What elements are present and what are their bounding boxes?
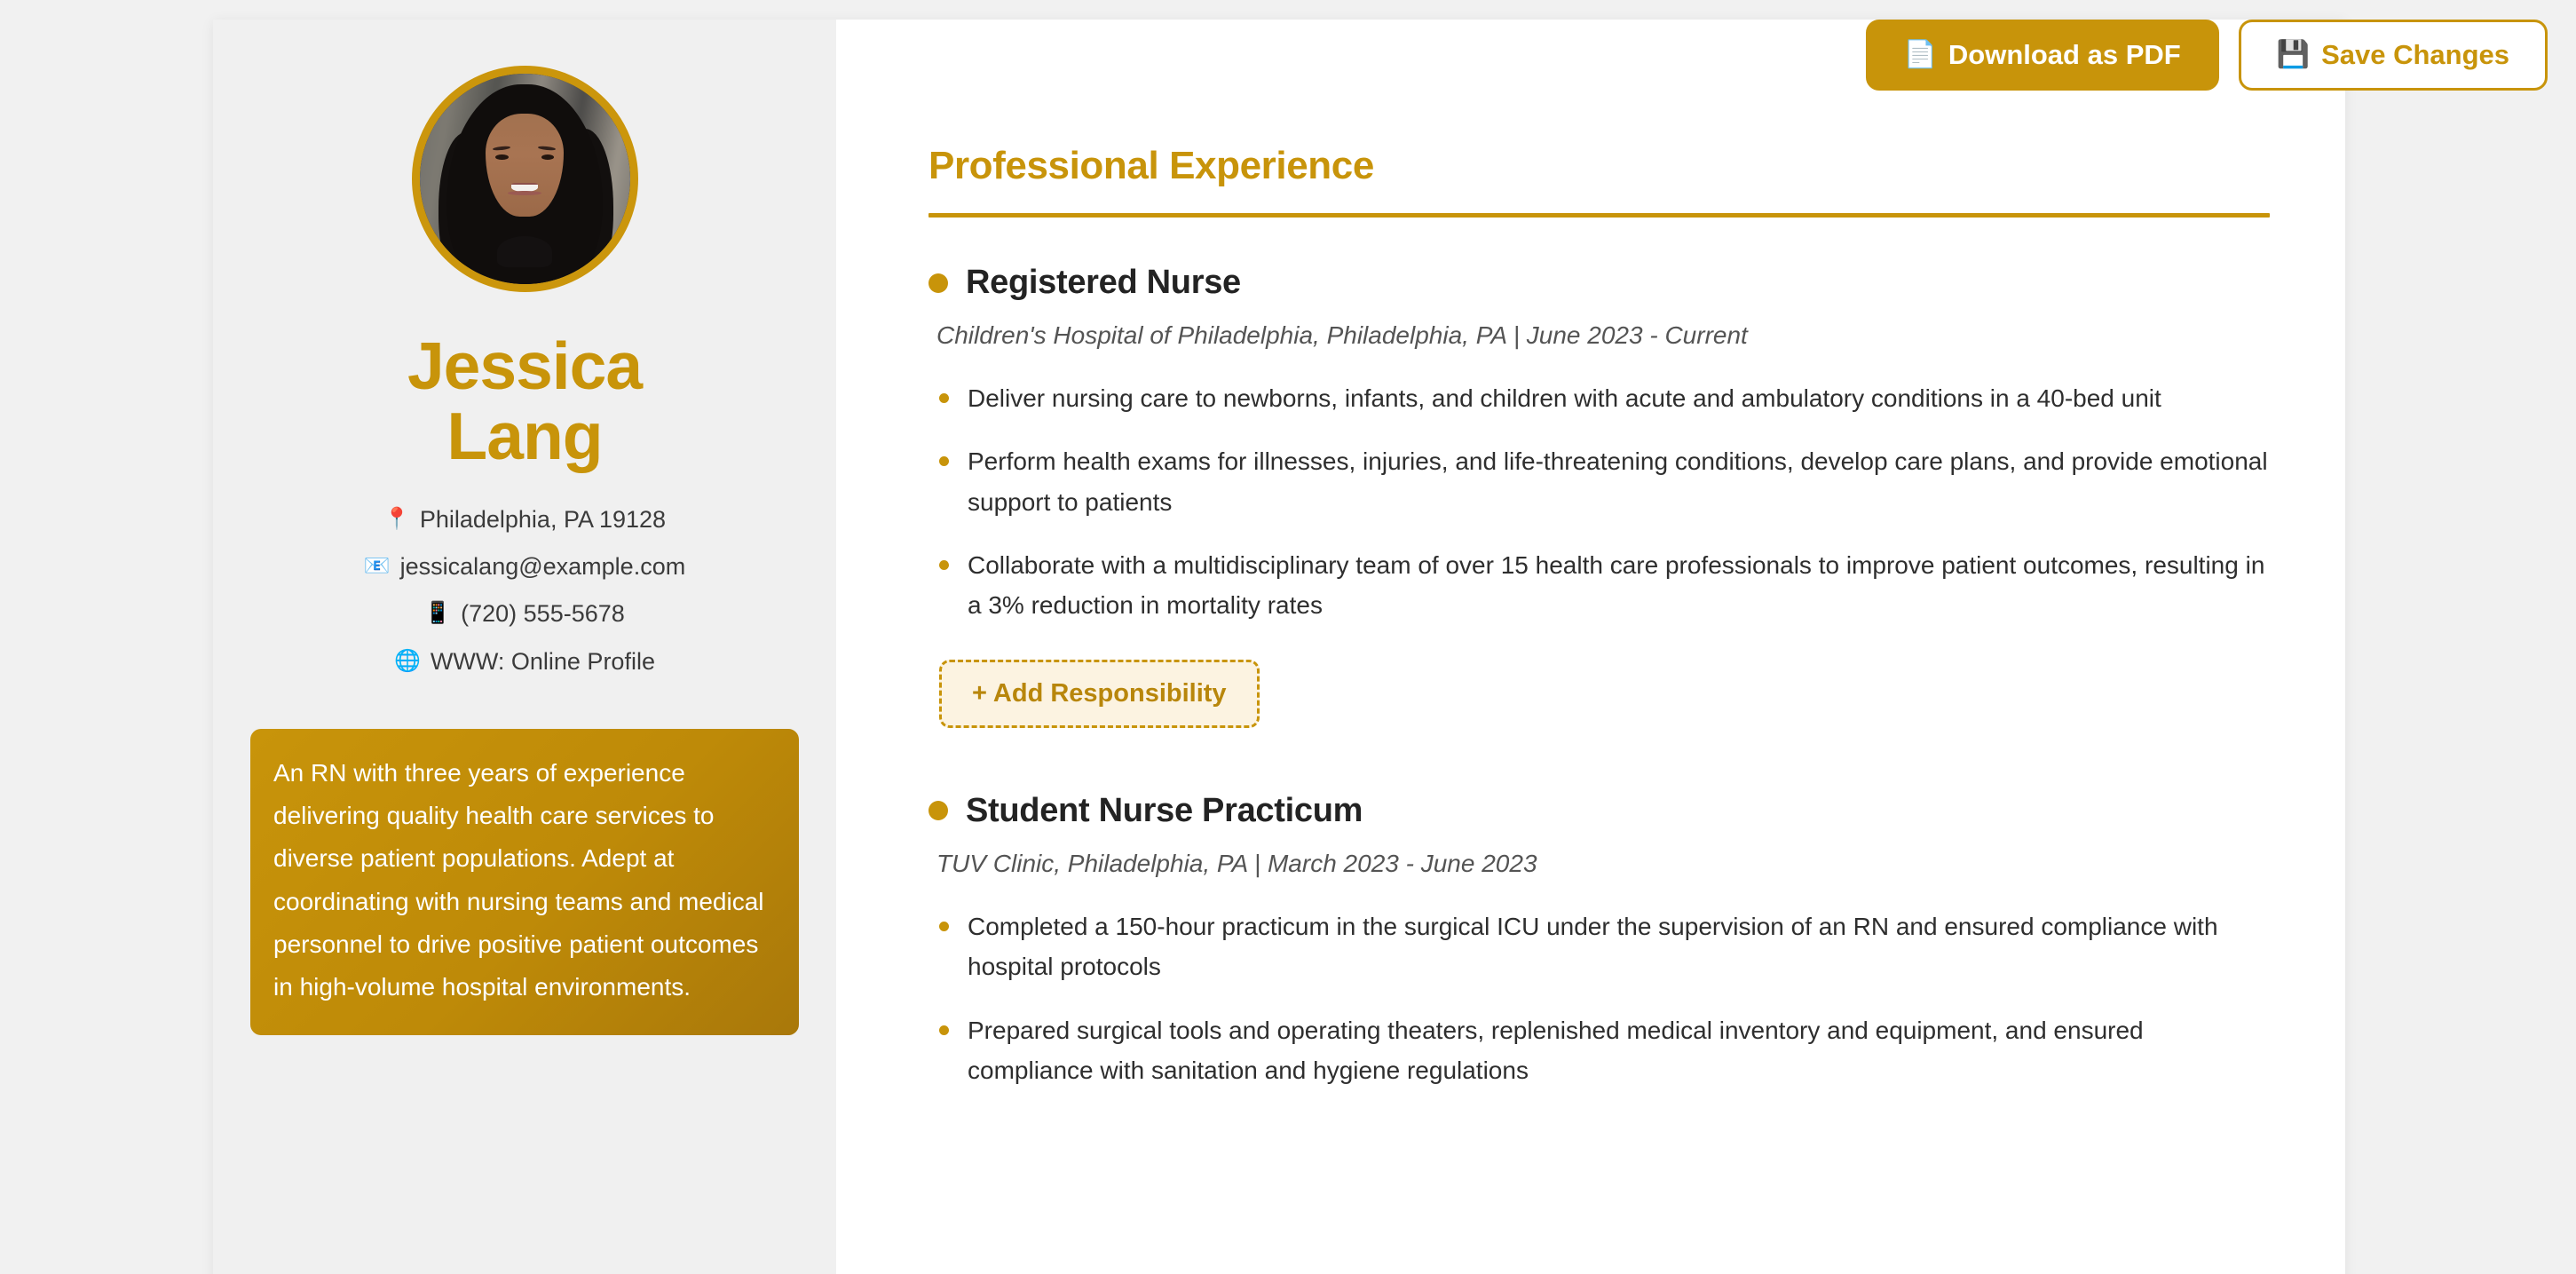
avatar-photo [420,74,630,284]
responsibility-bullet-icon [939,1025,949,1035]
avatar-lower-lip [508,191,541,196]
editor-toolbar: 📄 Download as PDF 💾 Save Changes [1866,20,2548,91]
globe-icon: 🌐 [394,651,421,672]
job-entry: Registered Nurse Children's Hospital of … [928,264,2270,728]
save-changes-label: Save Changes [2321,40,2509,70]
contact-item-website[interactable]: 🌐 WWW: Online Profile [394,647,655,676]
contact-item-email[interactable]: 📧 jessicalang@example.com [364,552,685,581]
job-title-row[interactable]: Student Nurse Practicum [928,792,2270,830]
responsibility-list: Deliver nursing care to newborns, infant… [928,378,2270,626]
responsibility-text: Collaborate with a multidisciplinary tea… [968,545,2270,626]
responsibility-item[interactable]: Collaborate with a multidisciplinary tea… [939,545,2270,626]
responsibility-list: Completed a 150-hour practicum in the su… [928,906,2270,1090]
responsibility-item[interactable]: Completed a 150-hour practicum in the su… [939,906,2270,987]
job-title-row[interactable]: Registered Nurse [928,264,2270,302]
avatar-collar [497,236,552,268]
responsibility-item[interactable]: Perform health exams for illnesses, inju… [939,441,2270,522]
job-title: Registered Nurse [966,264,1241,302]
contact-email-text: jessicalang@example.com [400,552,686,581]
job-entry: Student Nurse Practicum TUV Clinic, Phil… [928,792,2270,1090]
contact-phone-text: (720) 555-5678 [461,599,625,628]
contact-item-phone[interactable]: 📱 (720) 555-5678 [424,599,625,628]
save-changes-button[interactable]: 💾 Save Changes [2239,20,2548,91]
responsibility-text: Perform health exams for illnesses, inju… [968,441,2270,522]
download-as-pdf-label: Download as PDF [1948,40,2181,70]
responsibility-item[interactable]: Deliver nursing care to newborns, infant… [939,378,2270,418]
responsibility-text: Deliver nursing care to newborns, infant… [968,378,2161,418]
contact-website-text: WWW: Online Profile [431,647,655,676]
floppy-disk-icon: 💾 [2277,42,2310,68]
job-meta[interactable]: Children's Hospital of Philadelphia, Phi… [936,321,2270,350]
job-bullet-icon [928,801,948,820]
section-title-professional-experience: Professional Experience [928,144,2270,188]
responsibility-bullet-icon [939,922,949,931]
mobile-phone-icon: 📱 [424,603,451,624]
section-divider [928,213,2270,218]
professional-summary[interactable]: An RN with three years of experience del… [250,729,799,1035]
responsibility-text: Completed a 150-hour practicum in the su… [968,906,2270,987]
resume-page-card: Jessica Lang 📍 Philadelphia, PA 19128 📧 … [213,20,2345,1274]
job-title: Student Nurse Practicum [966,792,1363,830]
avatar[interactable] [412,66,638,292]
responsibility-bullet-icon [939,393,949,403]
contact-list: 📍 Philadelphia, PA 19128 📧 jessicalang@e… [250,505,799,677]
app-background: Jessica Lang 📍 Philadelphia, PA 19128 📧 … [0,0,2576,1274]
contact-location-text: Philadelphia, PA 19128 [420,505,666,534]
responsibility-item[interactable]: Prepared surgical tools and operating th… [939,1010,2270,1091]
responsibility-bullet-icon [939,456,949,466]
responsibility-bullet-icon [939,560,949,570]
responsibility-text: Prepared surgical tools and operating th… [968,1010,2270,1091]
resume-sidebar: Jessica Lang 📍 Philadelphia, PA 19128 📧 … [213,20,836,1274]
job-meta[interactable]: TUV Clinic, Philadelphia, PA | March 202… [936,850,2270,878]
download-as-pdf-button[interactable]: 📄 Download as PDF [1866,20,2219,91]
page-facing-up-icon: 📄 [1904,42,1937,68]
location-pin-icon: 📍 [383,509,410,530]
candidate-name[interactable]: Jessica Lang [334,331,715,471]
resume-main-content: Professional Experience Registered Nurse… [836,20,2345,1274]
contact-item-location[interactable]: 📍 Philadelphia, PA 19128 [383,505,666,534]
email-icon: 📧 [364,556,391,577]
job-bullet-icon [928,273,948,293]
add-responsibility-button[interactable]: + Add Responsibility [939,660,1260,728]
